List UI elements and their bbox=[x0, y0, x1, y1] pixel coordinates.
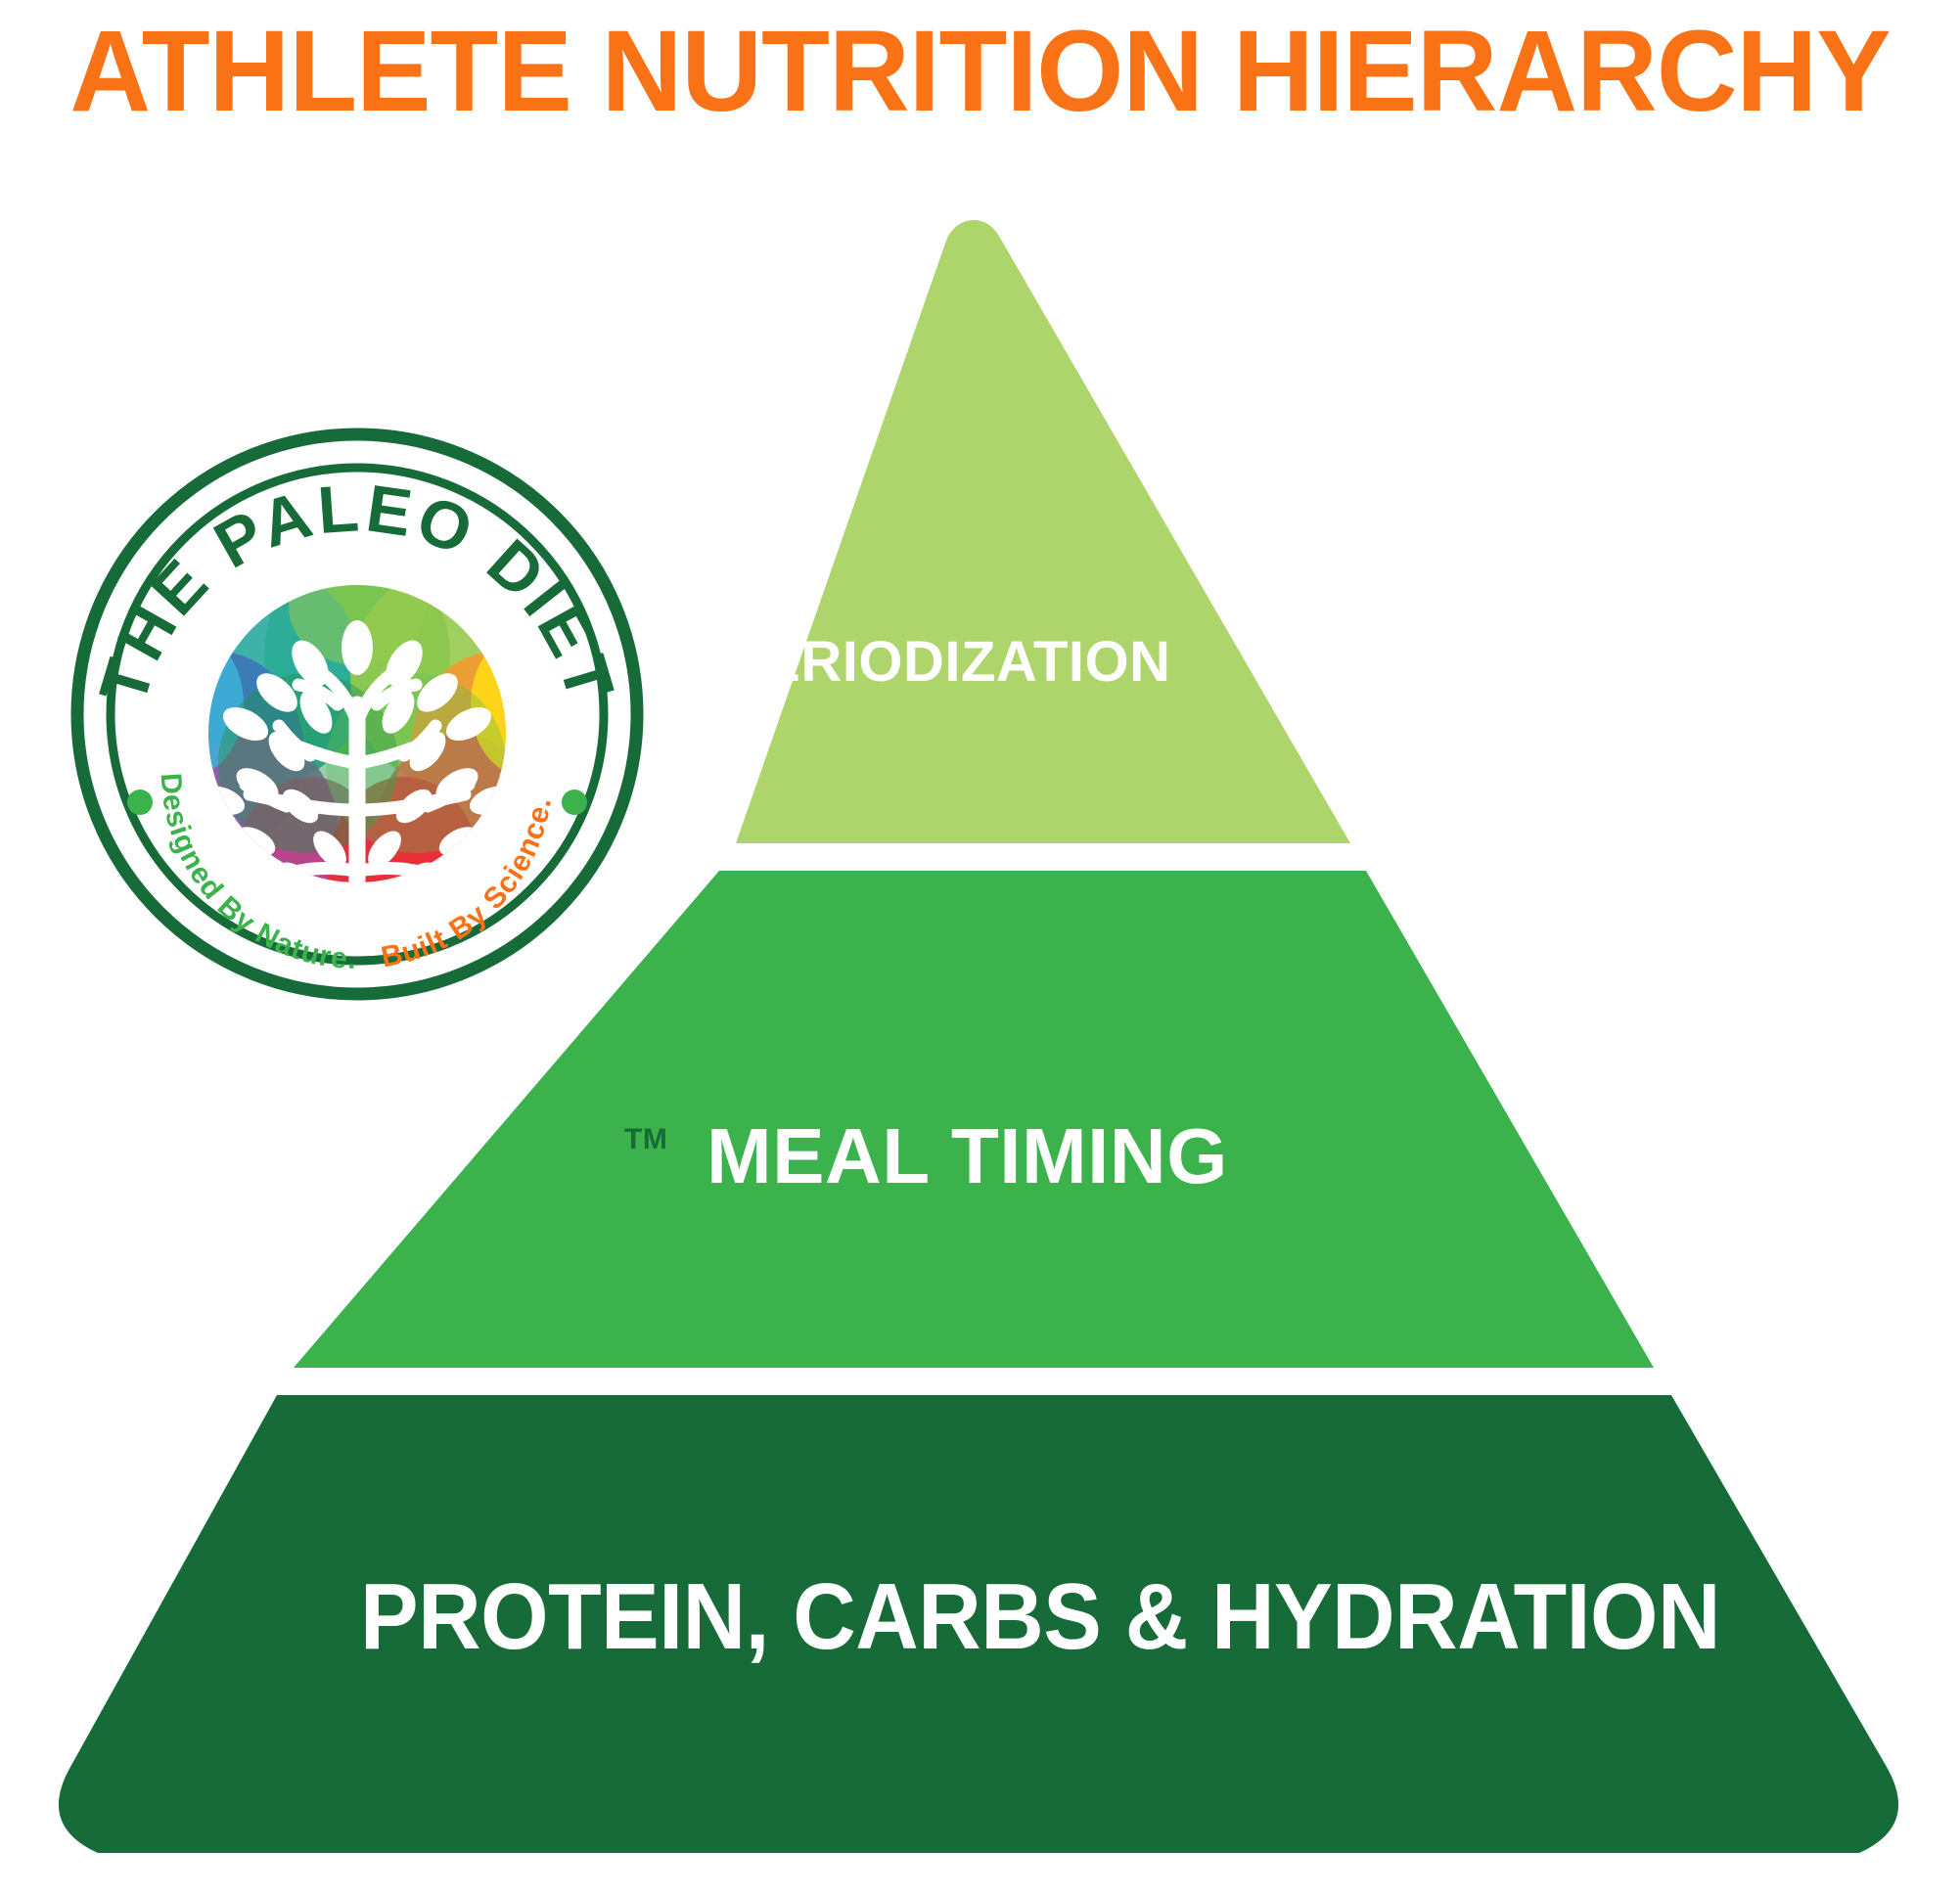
paleo-diet-logo-badge[interactable]: THE PALEO DIET Designed By Nature. Built… bbox=[54, 411, 661, 1017]
badge-dot-left bbox=[127, 790, 153, 815]
tier-label-meal-timing: MEAL TIMING bbox=[707, 1117, 1228, 1196]
pyramid-tier-periodization[interactable] bbox=[736, 220, 1350, 843]
trademark-mark: TM bbox=[624, 1123, 667, 1156]
tier-label-protein-carbs-hydration: PROTEIN, CARBS & HYDRATION bbox=[360, 1570, 1720, 1664]
tier-label-periodization: PERIODIZATION bbox=[724, 634, 1171, 691]
badge-dot-right bbox=[562, 790, 587, 815]
infographic-canvas: ATHLETE NUTRITION HIERARCHY PERIODIZATIO… bbox=[0, 0, 1960, 1896]
